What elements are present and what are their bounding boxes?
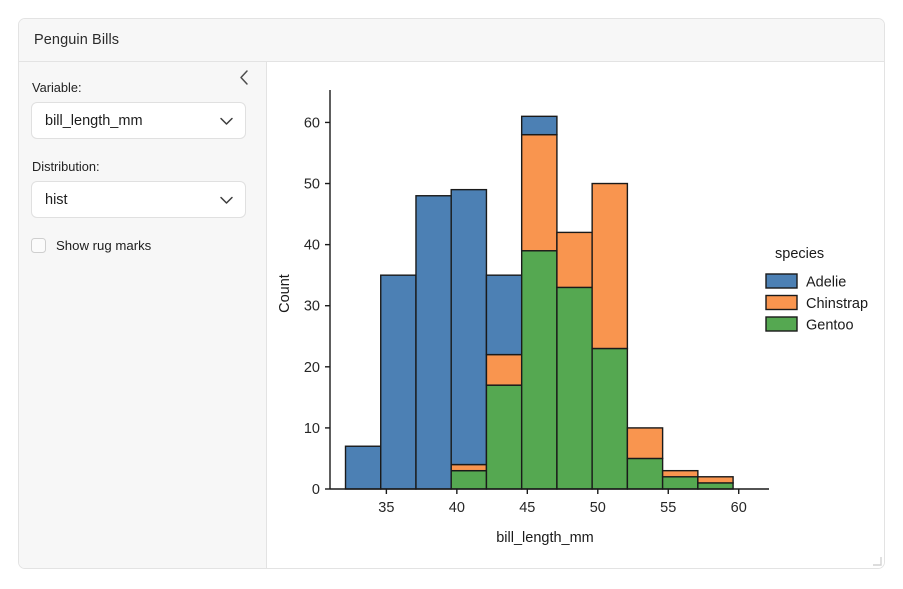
legend-label: Chinstrap [806, 296, 868, 312]
x-tick-label: 40 [449, 500, 465, 516]
y-tick-label: 40 [304, 238, 320, 254]
bar-segment [663, 471, 698, 477]
bar-segment [346, 446, 381, 489]
legend-swatch [766, 274, 797, 288]
bar-segment [557, 287, 592, 489]
y-tick-label: 50 [304, 177, 320, 193]
chevron-left-icon [238, 69, 251, 91]
bar-segment [627, 428, 662, 459]
bar-segment [486, 385, 521, 489]
y-tick-label: 0 [312, 482, 320, 498]
bar-segment [663, 477, 698, 489]
x-tick-label: 55 [660, 500, 676, 516]
distribution-label: Distribution: [32, 159, 246, 174]
bar-segment [451, 465, 486, 471]
bar-segment [522, 116, 557, 134]
bar-segment [486, 275, 521, 354]
window-body: Variable: bill_length_mm Distribution: h… [19, 62, 884, 568]
app-window: Penguin Bills Variable: bill_length_mm [18, 18, 885, 569]
plot-pane: 0102030405060354045505560bill_length_mmC… [267, 62, 884, 568]
chevron-down-icon [219, 195, 234, 205]
show-rug-marks-row[interactable]: Show rug marks [31, 238, 246, 253]
legend-title: species [775, 246, 824, 262]
y-axis-label: Count [277, 274, 293, 313]
bar-segment [486, 355, 521, 386]
bar-segment [592, 348, 627, 489]
show-rug-marks-checkbox[interactable] [31, 238, 46, 253]
show-rug-marks-label: Show rug marks [56, 238, 151, 253]
title-bar: Penguin Bills [19, 19, 884, 62]
bar-segment [698, 477, 733, 483]
y-tick-label: 10 [304, 421, 320, 437]
bar-segment [698, 483, 733, 489]
bar-segment [557, 232, 592, 287]
bar-segment [592, 184, 627, 349]
distribution-select[interactable]: hist [31, 181, 246, 218]
legend-swatch [766, 296, 797, 310]
x-axis-label: bill_length_mm [496, 530, 594, 546]
x-tick-label: 45 [519, 500, 535, 516]
x-tick-label: 50 [590, 500, 606, 516]
x-tick-label: 60 [731, 500, 747, 516]
variable-select[interactable]: bill_length_mm [31, 102, 246, 139]
histogram-chart: 0102030405060354045505560bill_length_mmC… [267, 62, 885, 568]
x-tick-label: 35 [378, 500, 394, 516]
bar-segment [627, 458, 662, 489]
sidebar-collapse-button[interactable] [232, 68, 256, 92]
chevron-down-icon [219, 116, 234, 126]
bar-segment [381, 275, 416, 489]
variable-label: Variable: [32, 80, 246, 95]
distribution-select-value: hist [45, 192, 68, 208]
legend-label: Gentoo [806, 318, 854, 334]
y-tick-label: 60 [304, 115, 320, 131]
bar-segment [451, 471, 486, 489]
y-tick-label: 20 [304, 360, 320, 376]
page-title: Penguin Bills [34, 32, 119, 48]
sidebar: Variable: bill_length_mm Distribution: h… [19, 62, 267, 568]
bar-segment [451, 190, 486, 465]
bar-segment [522, 251, 557, 489]
bar-segment [416, 196, 451, 489]
legend-label: Adelie [806, 275, 846, 291]
legend-swatch [766, 317, 797, 331]
y-tick-label: 30 [304, 299, 320, 315]
variable-select-value: bill_length_mm [45, 113, 143, 129]
bar-segment [522, 135, 557, 251]
